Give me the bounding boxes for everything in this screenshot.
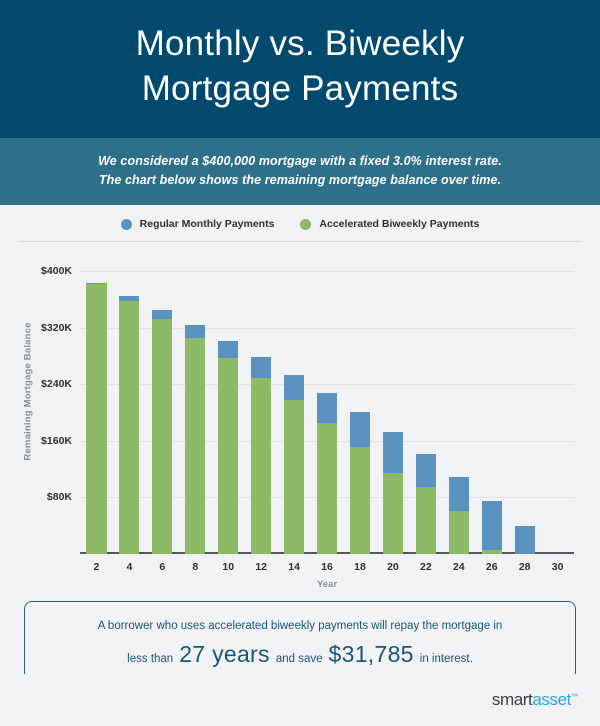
callout-line-1: A borrower who uses accelerated biweekly…: [47, 618, 553, 635]
infographic-root: Monthly vs. Biweekly Mortgage Payments W…: [0, 0, 600, 726]
subheader-band: We considered a $400,000 mortgage with a…: [0, 138, 600, 206]
y-axis-tick-label: $400K: [41, 265, 72, 277]
bar-biweekly[interactable]: [86, 284, 106, 554]
callout-highlight-years: 27 years: [179, 642, 270, 667]
chart-area: Remaining Mortgage Balance $80K$160K$240…: [18, 241, 582, 593]
bar-group-year-4[interactable]: [113, 272, 146, 554]
x-axis-tick-label: 22: [409, 561, 442, 573]
smartasset-logo: smartasset™: [492, 690, 578, 710]
bar-biweekly[interactable]: [185, 338, 205, 554]
bar-group-year-2[interactable]: [80, 272, 113, 554]
header-band: Monthly vs. Biweekly Mortgage Payments: [0, 0, 600, 138]
page-title-line-2: Mortgage Payments: [40, 67, 560, 112]
footer: smartasset™: [0, 674, 600, 726]
bar-group-year-16[interactable]: [311, 272, 344, 554]
bar-biweekly[interactable]: [251, 378, 271, 554]
x-axis-tick-labels: 24681012141618202224262830: [80, 561, 574, 573]
bar-biweekly[interactable]: [482, 550, 502, 554]
bar-group-year-18[interactable]: [344, 272, 377, 554]
plot-region: $80K$160K$240K$320K$400K: [80, 272, 574, 554]
x-axis-tick-label: 30: [541, 561, 574, 573]
bar-biweekly[interactable]: [317, 423, 337, 554]
bar-biweekly[interactable]: [119, 301, 139, 555]
subheader-line-2: The chart below shows the remaining mort…: [30, 171, 570, 190]
x-axis-tick-label: 4: [113, 561, 146, 573]
y-axis-tick-label: $240K: [41, 378, 72, 390]
bar-monthly[interactable]: [515, 526, 535, 554]
x-axis-title: Year: [80, 579, 574, 590]
logo-text-smart: smart: [492, 690, 533, 709]
y-axis-title-label: Remaining Mortgage Balance: [23, 322, 34, 460]
logo-text-asset: asset: [532, 690, 571, 709]
bar-biweekly[interactable]: [284, 400, 304, 554]
bars-group: [80, 272, 574, 554]
x-axis-tick-label: 8: [179, 561, 212, 573]
bar-biweekly[interactable]: [350, 447, 370, 554]
bar-group-year-26[interactable]: [475, 272, 508, 554]
x-axis-tick-label: 28: [508, 561, 541, 573]
bar-biweekly[interactable]: [449, 511, 469, 555]
y-axis-title: Remaining Mortgage Balance: [20, 241, 36, 541]
legend-item-biweekly: Accelerated Biweekly Payments: [300, 218, 479, 230]
bar-biweekly[interactable]: [383, 473, 403, 554]
bar-group-year-30[interactable]: [541, 272, 574, 554]
bar-biweekly[interactable]: [416, 487, 436, 555]
bar-biweekly[interactable]: [218, 358, 238, 555]
x-axis-tick-label: 12: [245, 561, 278, 573]
bar-group-year-22[interactable]: [409, 272, 442, 554]
y-axis-tick-label: $320K: [41, 322, 72, 334]
callout-text-and-save: and save: [276, 653, 323, 666]
legend-dot-green-icon: [300, 219, 311, 230]
legend-item-monthly: Regular Monthly Payments: [121, 218, 275, 230]
x-axis-tick-label: 10: [212, 561, 245, 573]
x-axis-tick-label: 20: [376, 561, 409, 573]
y-axis-tick-label: $160K: [41, 435, 72, 447]
logo-trademark-icon: ™: [571, 693, 578, 700]
bar-group-year-10[interactable]: [212, 272, 245, 554]
chart-top-divider: [18, 241, 582, 242]
y-axis-tick-label: $80K: [47, 491, 72, 503]
x-axis-tick-label: 18: [344, 561, 377, 573]
callout-highlight-savings: $31,785: [329, 642, 414, 667]
page-title: Monthly vs. Biweekly Mortgage Payments: [40, 22, 560, 112]
bar-biweekly[interactable]: [152, 319, 172, 554]
legend-label-monthly: Regular Monthly Payments: [140, 218, 275, 230]
x-axis-tick-label: 14: [278, 561, 311, 573]
x-axis-tick-label: 26: [475, 561, 508, 573]
chart-legend: Regular Monthly Payments Accelerated Biw…: [0, 205, 600, 241]
bar-group-year-8[interactable]: [179, 272, 212, 554]
bar-group-year-12[interactable]: [245, 272, 278, 554]
page-title-line-1: Monthly vs. Biweekly: [40, 22, 560, 67]
bar-group-year-6[interactable]: [146, 272, 179, 554]
callout-text-in-interest: in interest.: [420, 653, 473, 666]
callout-line-2: less than 27 years and save $31,785 in i…: [47, 642, 553, 667]
legend-dot-blue-icon: [121, 219, 132, 230]
bar-group-year-24[interactable]: [442, 272, 475, 554]
callout-text-less-than: less than: [127, 653, 173, 666]
x-axis-tick-label: 16: [311, 561, 344, 573]
bar-group-year-14[interactable]: [278, 272, 311, 554]
x-axis-tick-label: 6: [146, 561, 179, 573]
bar-group-year-28[interactable]: [508, 272, 541, 554]
x-axis-tick-label: 24: [442, 561, 475, 573]
bar-monthly[interactable]: [482, 501, 502, 555]
legend-label-biweekly: Accelerated Biweekly Payments: [319, 218, 479, 230]
x-axis-tick-label: 2: [80, 561, 113, 573]
subheader-line-1: We considered a $400,000 mortgage with a…: [30, 152, 570, 171]
bar-group-year-20[interactable]: [376, 272, 409, 554]
